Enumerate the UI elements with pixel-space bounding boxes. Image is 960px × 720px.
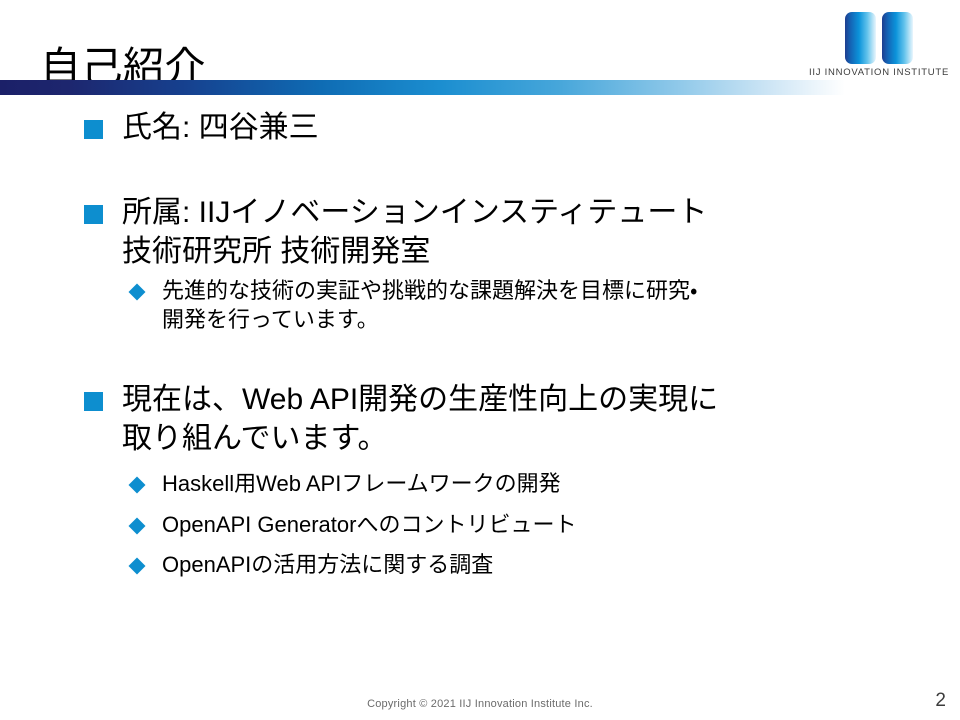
logo: IIJ INNOVATION INSTITUTE [808,12,950,82]
logo-bar-right-icon [882,12,913,64]
bullet-item: 現在は、Web API開発の生産性向上の実現に 取り組んでいます。 [0,380,960,458]
diamond-bullet-icon [129,517,146,534]
title-divider-gradient-bar [0,80,845,95]
logo-wordmark: IIJ INNOVATION INSTITUTE [808,67,950,78]
sub-bullet-line: Haskell用Web APIフレームワークの開発 [162,470,960,499]
bullet-item: 所属: IIJイノベーションインスティテュート 技術研究所 技術開発室 [0,193,960,271]
bullet-block-2: 所属: IIJイノベーションインスティテュート 技術研究所 技術開発室 先進的な… [0,193,960,334]
spacer [0,147,960,193]
bullet-block-3: 現在は、Web API開発の生産性向上の実現に 取り組んでいます。 Haskel… [0,380,960,580]
diamond-bullet-icon [129,284,146,301]
slide-body: 氏名: 四谷兼三 所属: IIJイノベーションインスティテュート 技術研究所 技… [0,108,960,580]
bullet-line: 技術研究所 技術開発室 [122,232,960,271]
bullet-line: 所属: IIJイノベーションインスティテュート [122,193,960,232]
bullet-line: 氏名: 四谷兼三 [122,108,960,147]
sub-bullet-item: Haskell用Web APIフレームワークの開発 [0,470,960,499]
bullet-line: 取り組んでいます。 [122,419,960,458]
bullet-item: 氏名: 四谷兼三 [0,108,960,147]
spacer [0,458,960,470]
diamond-bullet-icon [129,558,146,575]
diamond-bullet-icon [129,477,146,494]
sub-bullet-item: 先進的な技術の実証や挑戦的な課題解決を目標に研究・ 開発を行っています。 [0,277,960,334]
logo-mark-icon [845,12,913,64]
sub-bullet-line: OpenAPIの活用方法に関する調査 [162,551,960,580]
logo-bar-left-icon [845,12,876,64]
footer-copyright: Copyright © 2021 IIJ Innovation Institut… [0,698,960,710]
page-number: 2 [935,690,946,712]
square-bullet-icon [84,392,103,411]
spacer [0,499,960,511]
spacer [0,539,960,551]
bullet-line: 現在は、Web API開発の生産性向上の実現に [122,380,960,419]
sub-bullet-line: 開発を行っています。 [162,306,960,335]
square-bullet-icon [84,120,103,139]
square-bullet-icon [84,205,103,224]
spacer [0,334,960,380]
sub-bullet-line: OpenAPI Generatorへのコントリビュート [162,511,960,540]
bullet-block-1: 氏名: 四谷兼三 [0,108,960,147]
sub-bullet-item: OpenAPI Generatorへのコントリビュート [0,511,960,540]
sub-bullet-line: 先進的な技術の実証や挑戦的な課題解決を目標に研究・ [162,277,960,306]
sub-bullet-item: OpenAPIの活用方法に関する調査 [0,551,960,580]
slide-canvas: 自己紹介 IIJ INNOVATION INSTITUTE 氏名: 四谷兼三 所… [0,0,960,720]
